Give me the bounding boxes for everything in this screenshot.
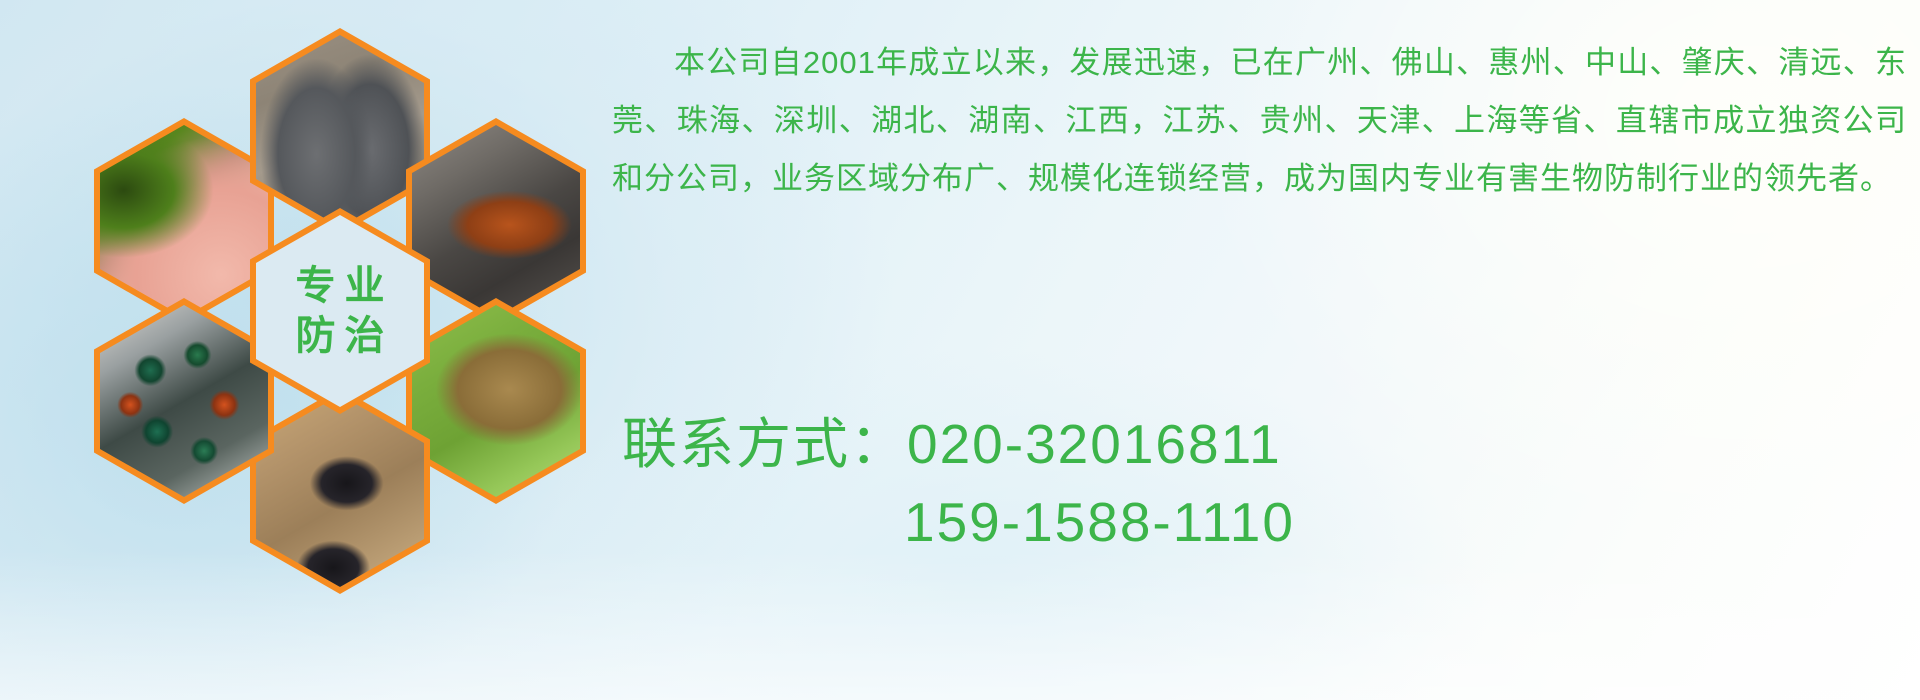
hex-tile-stinkbug[interactable] xyxy=(406,298,586,504)
contact-mobile-line[interactable]: 159-1588-1110 xyxy=(612,483,1912,561)
rat-icon xyxy=(256,35,424,227)
fly-icon xyxy=(100,305,268,497)
stinkbug-icon xyxy=(412,305,580,497)
copy-column: 本公司自2001年成立以来，发展迅速，已在广州、佛山、惠州、中山、肇庆、清远、东… xyxy=(612,34,1912,208)
hex-tile-flies-inner xyxy=(100,305,268,497)
background-haze-bottom xyxy=(0,550,1920,700)
contact-block: 联系方式：020-32016811 159-1588-1110 xyxy=(612,405,1912,561)
hex-tile-rats-inner xyxy=(256,35,424,227)
hexagon-image-cluster: 专业 防治 xyxy=(92,10,592,570)
cockroach-icon xyxy=(412,125,580,317)
company-intro-paragraph: 本公司自2001年成立以来，发展迅速，已在广州、佛山、惠州、中山、肇庆、清远、东… xyxy=(612,34,1907,208)
hex-tile-ant[interactable] xyxy=(250,388,430,594)
hex-tile-mosquito-inner xyxy=(100,125,268,317)
ant-icon xyxy=(256,395,424,587)
slogan-line-2: 防治 xyxy=(287,316,394,356)
hex-tile-mosquito[interactable] xyxy=(94,118,274,324)
hex-tile-ant-inner xyxy=(256,395,424,587)
hex-tile-cockroach-inner xyxy=(412,125,580,317)
hex-tile-cockroach[interactable] xyxy=(406,118,586,324)
hex-tile-flies[interactable] xyxy=(94,298,274,504)
hex-tile-slogan: 专业 防治 xyxy=(250,208,430,414)
hex-tile-stinkbug-inner xyxy=(412,305,580,497)
promotional-banner: 专业 防治 本公司自2001年成立以来，发展迅速，已在广州、佛山、惠州、中山、肇… xyxy=(0,0,1920,700)
hex-tile-slogan-inner: 专业 防治 xyxy=(256,215,424,407)
hex-tile-rats[interactable] xyxy=(250,28,430,234)
slogan-line-1: 专业 xyxy=(287,266,394,306)
contact-landline-line[interactable]: 联系方式：020-32016811 xyxy=(612,405,1912,483)
mosquito-icon xyxy=(100,125,268,317)
